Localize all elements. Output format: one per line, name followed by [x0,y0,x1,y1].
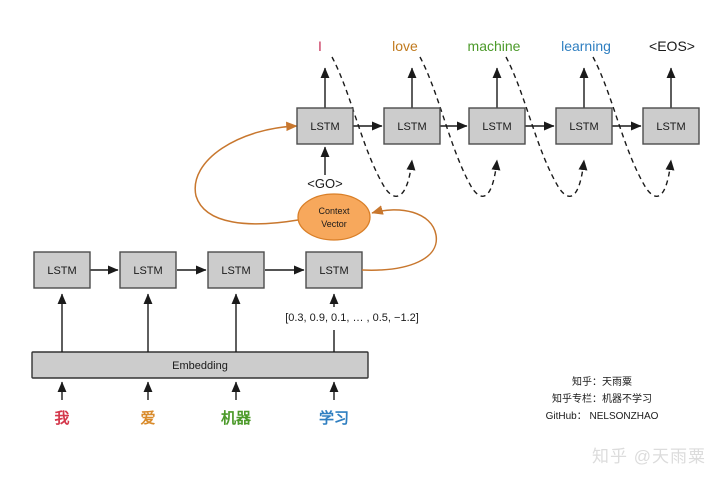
decoder-cell-3-label: LSTM [482,121,511,133]
context-vector-line1: Context [318,206,350,216]
decoder-cell-2-label: LSTM [397,121,426,133]
decoder-cell-1-label: LSTM [310,121,339,133]
decoder-cell-4: LSTM [556,108,612,144]
zhihu-watermark: 知乎 @天雨粟 [592,442,706,467]
decoder-cell-4-label: LSTM [569,121,598,133]
encoder-cell-3-label: LSTM [221,265,250,277]
input-word-4: 学习 [319,407,349,428]
encoder-input-arrows [62,382,334,400]
encoder-cell-2: LSTM [120,252,176,288]
output-word-1: I [318,38,322,54]
encoder-cell-4: LSTM [306,252,362,288]
encoder-cell-3: LSTM [208,252,264,288]
decoder-cell-1: LSTM [297,108,353,144]
diagram-canvas: Embedding LSTM [0,0,720,479]
credits-line-zhihu: 知乎：天雨粟 [502,374,702,391]
credits-line-github: GitHub： NELSONZHAO [502,408,702,425]
output-word-3: machine [468,38,521,54]
decoder-output-arrows [325,68,671,108]
encoder-cell-1-label: LSTM [47,265,76,277]
input-word-3: 机器 [221,407,251,428]
encoder-cell-1: LSTM [34,252,90,288]
decoder-cell-5: LSTM [643,108,699,144]
input-word-1: 我 [54,407,69,428]
decoder-cell-3: LSTM [469,108,525,144]
context-vector-node: Context Vector [298,194,370,240]
embedding-bar-label: Embedding [172,360,228,372]
credits-line-column: 知乎专栏：机器不学习 [502,391,702,408]
input-word-2: 爱 [140,407,155,428]
credits-block: 知乎：天雨粟 知乎专栏：机器不学习 GitHub： NELSONZHAO [502,374,702,425]
output-word-5-eos: <EOS> [649,38,695,54]
output-word-4: learning [561,38,611,54]
encoder-cell-4-label: LSTM [319,265,348,277]
encoder-to-context-path [362,210,436,270]
decoder-cell-5-label: LSTM [656,121,685,133]
encoder-cell-2-label: LSTM [133,265,162,277]
go-token-label: <GO> [307,176,342,191]
decoder-cell-2: LSTM [384,108,440,144]
context-vector-line2: Vector [321,219,347,229]
embedding-vector-text: [0.3, 0.9, 0.1, … , 0.5, −1.2] [285,312,419,324]
context-to-decoder-path [195,126,298,224]
output-word-2: love [392,38,418,54]
